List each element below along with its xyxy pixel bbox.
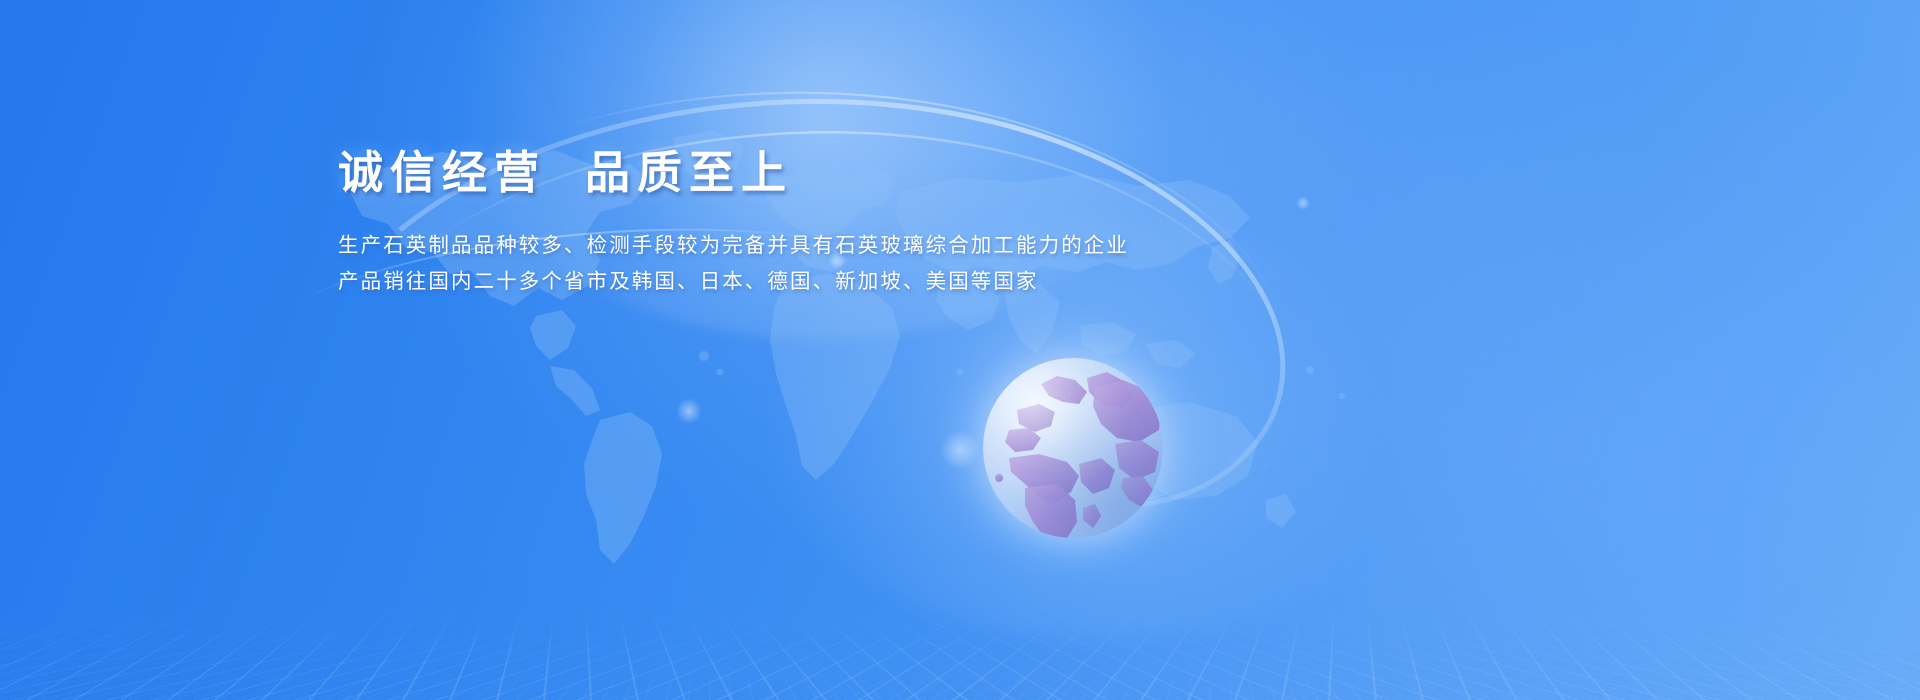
perspective-grid-fine (0, 659, 1920, 700)
particle-dot (676, 398, 702, 424)
perspective-grid (0, 606, 1920, 700)
particle-dot (940, 430, 980, 470)
globe-glow (931, 306, 1215, 590)
banner-subtitle-group: 生产石英制品品种较多、检测手段较为完备并具有石英玻璃综合加工能力的企业 产品销往… (338, 228, 1438, 299)
globe-3d (983, 358, 1163, 538)
globe-shading (983, 358, 1163, 538)
globe-sphere (983, 358, 1163, 538)
banner-subtitle-line-2: 产品销往国内二十多个省市及韩国、日本、德国、新加坡、美国等国家 (338, 264, 1438, 299)
light-ribbon-arc (0, 0, 1920, 700)
banner-headline: 诚信经营 品质至上 (338, 148, 1438, 198)
hero-banner: 诚信经营 品质至上 生产石英制品品种较多、检测手段较为完备并具有石英玻璃综合加工… (0, 0, 1920, 700)
banner-copy: 诚信经营 品质至上 生产石英制品品种较多、检测手段较为完备并具有石英玻璃综合加工… (338, 148, 1438, 299)
banner-subtitle-line-1: 生产石英制品品种较多、检测手段较为完备并具有石英玻璃综合加工能力的企业 (338, 228, 1438, 263)
